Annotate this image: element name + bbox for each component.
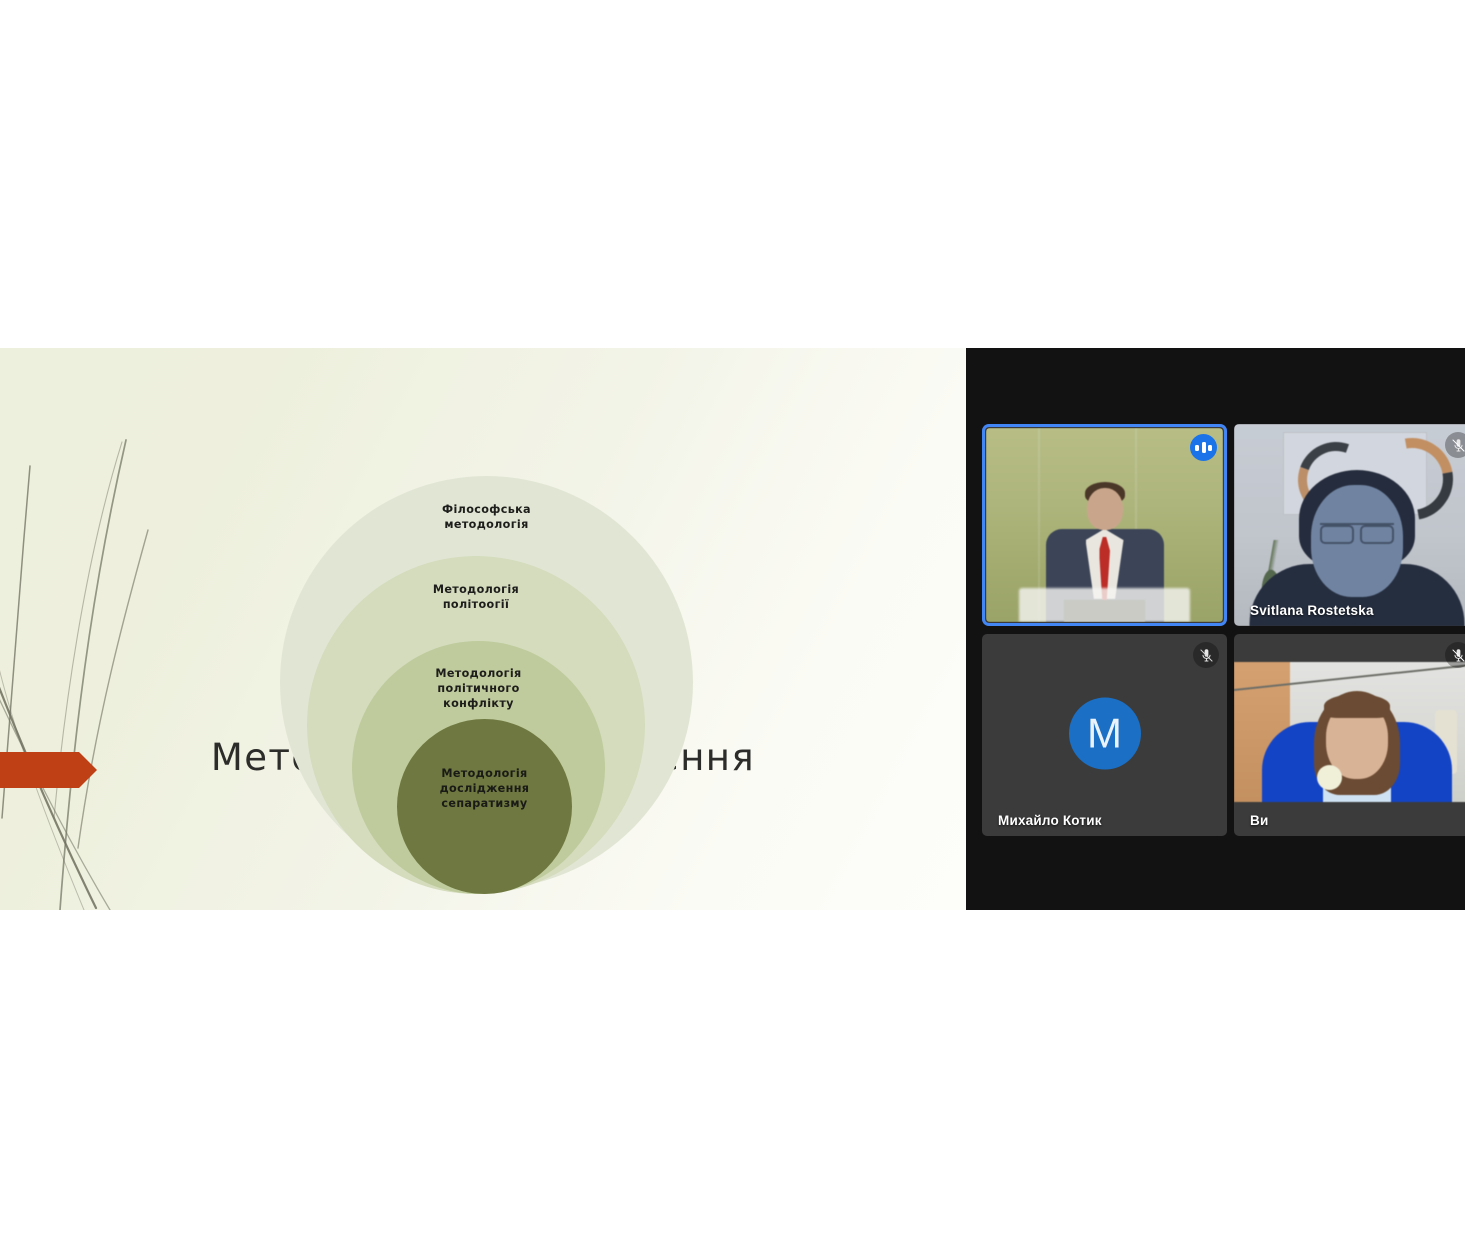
ring-label-2: Методологія політоогії bbox=[307, 582, 645, 612]
speaking-indicator-icon bbox=[1190, 434, 1217, 461]
ring-label-3: Методологія політичного конфлікту bbox=[352, 666, 605, 711]
shared-slide[interactable]: Методологія дослідження Філософська мето… bbox=[0, 348, 966, 910]
ring-label-1: Філософська методологія bbox=[280, 502, 693, 532]
avatar: M bbox=[1069, 698, 1141, 770]
participant-tile-presenter[interactable] bbox=[982, 424, 1227, 626]
participant-tile-you[interactable]: Ви bbox=[1234, 634, 1465, 836]
participants-panel: Svitlana Rostetska M Михайло Котик bbox=[966, 348, 1465, 910]
participant-name-you: Ви bbox=[1234, 809, 1280, 836]
participant-tile-mykhailo[interactable]: M Михайло Котик bbox=[982, 634, 1227, 836]
participant-tile-svitlana[interactable]: Svitlana Rostetska bbox=[1234, 424, 1465, 626]
participant-video-presenter bbox=[986, 428, 1223, 622]
nested-circles-diagram: Філософська методологія Методологія полі… bbox=[272, 476, 722, 896]
mic-muted-icon bbox=[1445, 432, 1465, 458]
ring-label-4: Методологія дослідження сепаратизму bbox=[397, 766, 572, 811]
participant-name-svitlana: Svitlana Rostetska bbox=[1234, 599, 1386, 626]
screen-root: Методологія дослідження Філософська мето… bbox=[0, 0, 1465, 1260]
participant-video-you bbox=[1234, 662, 1465, 802]
mic-muted-icon bbox=[1445, 642, 1465, 668]
participant-video-svitlana bbox=[1234, 424, 1465, 626]
presentation-stage: Методологія дослідження Філософська мето… bbox=[0, 348, 1465, 910]
mic-muted-icon bbox=[1193, 642, 1219, 668]
participant-name-mykhailo: Михайло Котик bbox=[982, 809, 1114, 836]
